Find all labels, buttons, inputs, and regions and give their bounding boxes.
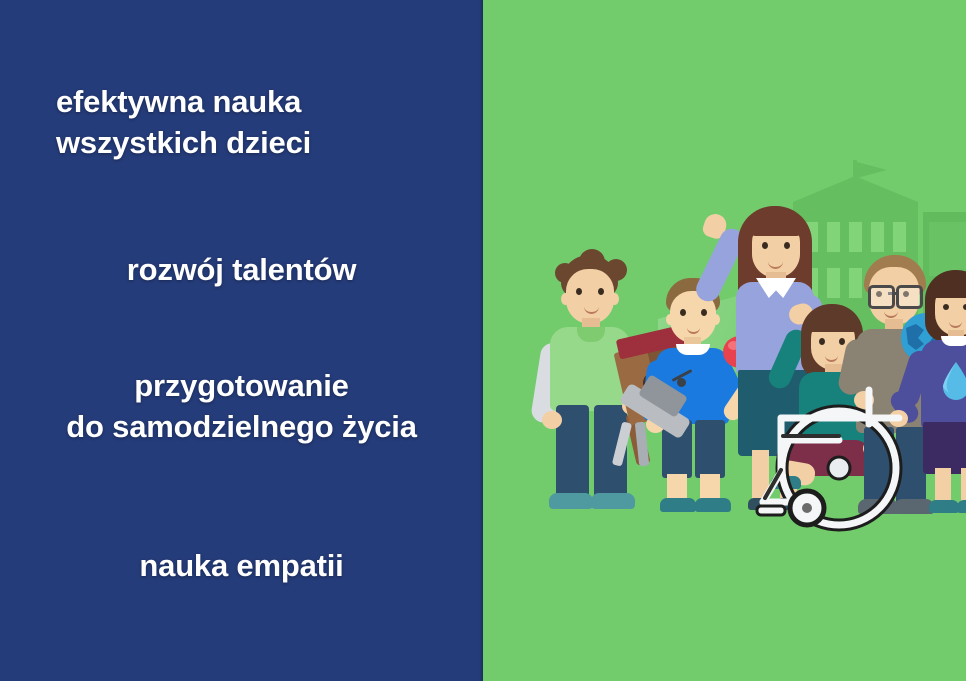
slide-canvas: efektywna nauka wszystkich dzieci rozwój… [0, 0, 966, 681]
water-drop-icon [941, 360, 966, 400]
wheelchair-icon [751, 380, 931, 540]
message-nauka-empatii: nauka empatii [0, 546, 483, 587]
left-text-panel: efektywna nauka wszystkich dzieci rozwój… [0, 0, 483, 681]
glasses-icon [868, 285, 895, 309]
message-efektywna-nauka: efektywna nauka wszystkich dzieci [0, 82, 483, 164]
telescope-icon [615, 370, 707, 470]
message-rozwoj-talentow: rozwój talentów [0, 250, 483, 291]
right-illustration-panel [483, 0, 966, 681]
message-przygotowanie-do-samodzielnego-zycia: przygotowanie do samodzielnego życia [0, 366, 483, 448]
